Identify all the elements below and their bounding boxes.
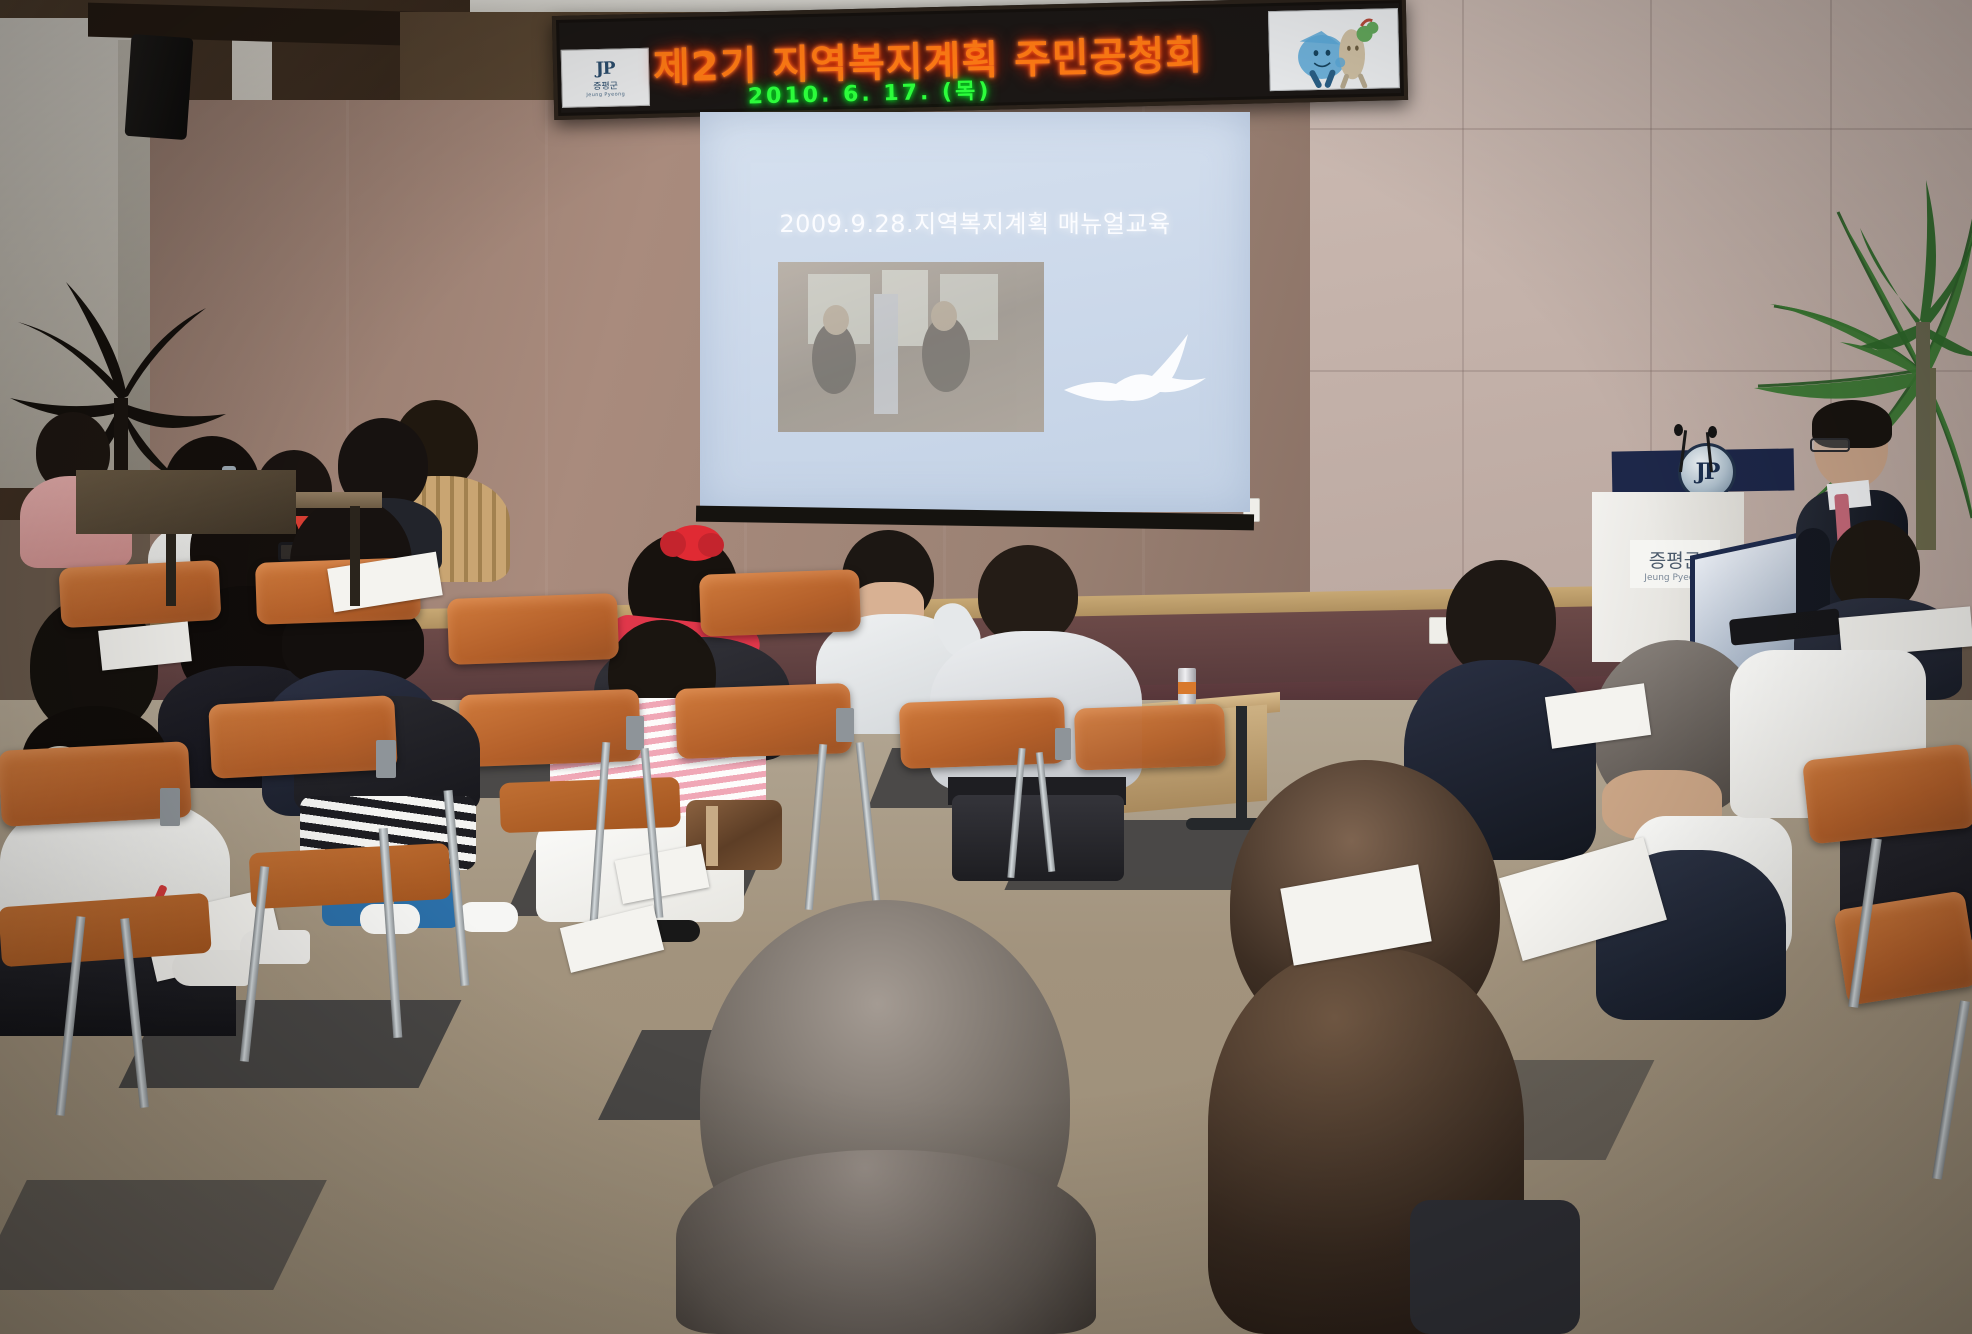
projection-screen: 2009.9.28.지역복지계획 매뉴얼교육	[700, 112, 1250, 512]
microphone-left-head	[1674, 424, 1683, 436]
list-item	[1150, 760, 1570, 1334]
banner-logo: JP 증평군 Jeung Pyeong	[561, 48, 650, 108]
microphone-right-head	[1708, 426, 1717, 438]
wall-speaker-icon	[125, 34, 194, 140]
chair-back	[208, 695, 398, 779]
shoe	[172, 950, 250, 986]
back-table-leg	[350, 506, 360, 606]
presenter-glasses-icon	[1810, 438, 1850, 452]
chair-bracket	[160, 788, 180, 826]
chair-back	[59, 560, 222, 628]
chair-bracket	[1055, 728, 1071, 760]
chair-seat	[249, 843, 452, 909]
slide-title: 2009.9.28.지역복지계획 매뉴얼교육	[710, 204, 1240, 239]
back-lectern	[76, 470, 296, 534]
chair-bracket	[376, 740, 396, 778]
banner-logo-korean: 증평군	[593, 78, 618, 92]
chair-back	[1802, 744, 1972, 845]
banner-mascot-icon	[1268, 8, 1400, 91]
banner-logo-mark: JP	[595, 58, 614, 78]
slide-seagull-icon	[1056, 320, 1216, 416]
banner-date: 2010. 6. 17. (목)	[747, 73, 991, 111]
led-banner: JP 증평군 Jeung Pyeong 제2기 지역복지계획 주민공청회 201…	[552, 0, 1408, 120]
list-item	[640, 900, 1140, 1334]
chair-bracket	[836, 708, 854, 742]
slide-photo-inset	[778, 262, 1044, 432]
beverage-can	[1178, 668, 1196, 704]
podium-emblem-text: JP	[1696, 459, 1719, 485]
chair-back	[447, 593, 619, 665]
sneaker	[458, 902, 518, 932]
banner-logo-english: Jeung Pyeong	[586, 91, 625, 98]
photo-scene: JP 증평군 Jeung Pyeong 제2기 지역복지계획 주민공청회 201…	[0, 0, 1972, 1334]
chair-bracket	[626, 716, 644, 750]
chair-back	[699, 569, 861, 637]
